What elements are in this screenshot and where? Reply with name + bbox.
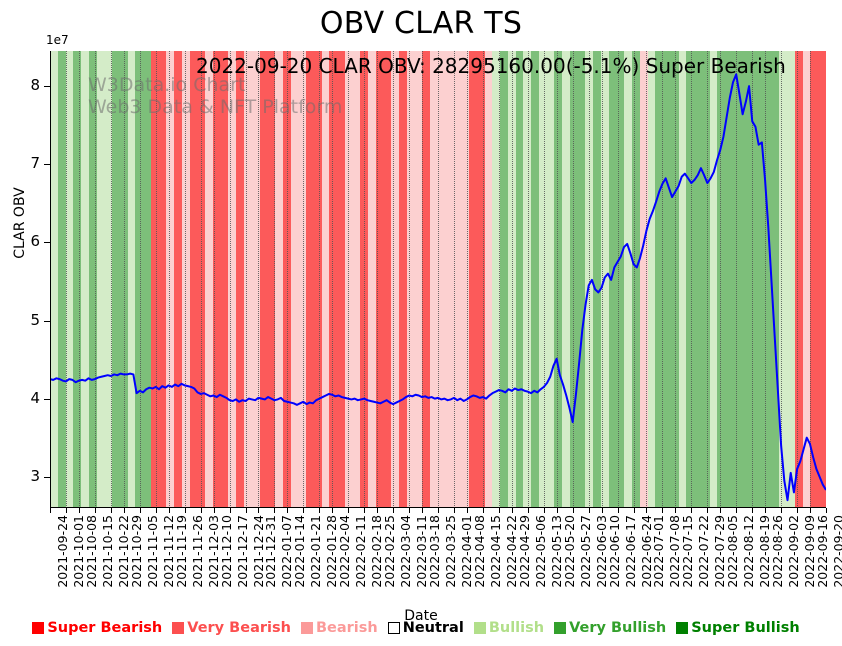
legend-label: Super Bullish: [691, 620, 799, 636]
x-tick-label: 2021-12-31: [263, 515, 278, 588]
x-tick-mark: [348, 508, 349, 513]
x-tick-mark: [528, 508, 529, 513]
series-polyline: [50, 74, 826, 500]
x-tick-label: 2022-06-10: [607, 515, 622, 588]
x-tick-mark: [557, 508, 558, 513]
x-tick-mark: [377, 508, 378, 513]
x-tick-mark: [499, 508, 500, 513]
legend-swatch: [301, 622, 313, 634]
x-tick-mark: [691, 508, 692, 513]
x-tick-mark: [736, 508, 737, 513]
x-tick-label: 2022-05-27: [578, 515, 593, 588]
x-tick-mark: [512, 508, 513, 513]
x-tick-mark: [201, 508, 202, 513]
x-tick-label: 2021-10-29: [129, 515, 144, 588]
legend-label: Super Bearish: [47, 620, 162, 636]
x-tick-label: 2022-08-26: [770, 515, 785, 588]
x-tick-mark: [364, 508, 365, 513]
x-tick-mark: [618, 508, 619, 513]
x-tick-mark: [409, 508, 410, 513]
x-tick-mark: [185, 508, 186, 513]
x-tick-mark: [826, 508, 827, 513]
x-tick-label: 2022-02-25: [382, 515, 397, 588]
x-tick-label: 2022-09-16: [815, 515, 830, 588]
x-tick-label: 2022-01-14: [292, 515, 307, 588]
x-tick-label: 2021-12-10: [219, 515, 234, 588]
legend-item[interactable]: Bearish: [301, 620, 378, 636]
legend-swatch: [172, 622, 184, 634]
x-tick-label: 2022-03-04: [398, 515, 413, 588]
x-tick-mark: [781, 508, 782, 513]
x-tick-mark: [50, 508, 51, 513]
legend-label: Bullish: [489, 620, 544, 636]
x-tick-label: 2021-10-15: [100, 515, 115, 588]
x-tick-label: 2021-10-08: [84, 515, 99, 588]
legend-swatch: [676, 622, 688, 634]
x-tick-mark: [319, 508, 320, 513]
x-tick-mark: [810, 508, 811, 513]
x-tick-mark: [765, 508, 766, 513]
x-tick-mark: [156, 508, 157, 513]
x-tick-mark: [214, 508, 215, 513]
legend-label: Very Bearish: [187, 620, 291, 636]
x-tick-label: 2022-07-15: [680, 515, 695, 588]
x-tick-label: 2022-05-20: [562, 515, 577, 588]
x-tick-mark: [707, 508, 708, 513]
x-tick-mark: [467, 508, 468, 513]
y-tick-mark: [44, 399, 50, 400]
legend-item[interactable]: Very Bearish: [172, 620, 291, 636]
x-tick-label: 2022-05-06: [533, 515, 548, 588]
legend-label: Bearish: [316, 620, 378, 636]
x-tick-label: 2022-03-18: [427, 515, 442, 588]
x-tick-label: 2022-04-15: [488, 515, 503, 588]
x-tick-label: 2021-11-05: [145, 515, 160, 588]
x-tick-mark: [438, 508, 439, 513]
x-tick-label: 2022-04-29: [517, 515, 532, 588]
x-tick-mark: [111, 508, 112, 513]
x-tick-mark: [95, 508, 96, 513]
legend-swatch: [32, 622, 44, 634]
x-tick-mark: [422, 508, 423, 513]
x-tick-mark: [720, 508, 721, 513]
x-tick-mark: [646, 508, 647, 513]
x-tick-mark: [393, 508, 394, 513]
x-tick-mark: [602, 508, 603, 513]
legend-swatch: [474, 622, 486, 634]
y-tick-mark: [44, 86, 50, 87]
page-title: OBV CLAR TS: [0, 6, 842, 41]
legend-label: Very Bullish: [569, 620, 666, 636]
y-axis-title: CLAR OBV: [12, 113, 28, 333]
x-tick-label: 2021-09-24: [55, 515, 70, 588]
y-tick-mark: [44, 164, 50, 165]
legend-item[interactable]: Super Bullish: [676, 620, 799, 636]
x-tick-label: 2022-01-21: [308, 515, 323, 588]
x-tick-label: 2021-11-19: [174, 515, 189, 588]
x-tick-mark: [544, 508, 545, 513]
x-tick-label: 2022-08-12: [741, 515, 756, 588]
x-tick-label: 2022-07-22: [696, 515, 711, 588]
x-tick-mark: [797, 508, 798, 513]
x-tick-mark: [274, 508, 275, 513]
x-tick-mark: [483, 508, 484, 513]
x-tick-mark: [662, 508, 663, 513]
x-tick-mark: [573, 508, 574, 513]
y-tick-mark: [44, 477, 50, 478]
legend-label: Neutral: [403, 620, 464, 636]
legend-item[interactable]: Very Bullish: [554, 620, 666, 636]
x-tick-mark: [752, 508, 753, 513]
x-tick-label: 2022-02-04: [337, 515, 352, 588]
x-tick-mark: [332, 508, 333, 513]
chart-figure: OBV CLAR TS 1e7 W3Data.io Chart Web3 Dat…: [0, 0, 842, 646]
legend-item[interactable]: Neutral: [388, 620, 464, 636]
watermark: W3Data.io Chart Web3 Data & NFT Platform: [88, 74, 342, 118]
x-tick-mark: [124, 508, 125, 513]
legend: Super BearishVery BearishBearishNeutralB…: [0, 620, 842, 636]
y-tick-label: 3: [14, 467, 40, 485]
x-tick-mark: [246, 508, 247, 513]
x-tick-mark: [287, 508, 288, 513]
watermark-line-2: Web3 Data & NFT Platform: [88, 96, 342, 118]
x-axis-ticks: 2021-09-242021-10-012021-10-082021-10-15…: [0, 508, 842, 612]
y-tick-mark: [44, 321, 50, 322]
x-tick-mark: [230, 508, 231, 513]
x-tick-label: 2021-11-26: [190, 515, 205, 588]
x-tick-label: 2021-12-17: [235, 515, 250, 588]
legend-swatch: [388, 622, 400, 634]
x-tick-mark: [258, 508, 259, 513]
x-tick-label: 2022-04-08: [472, 515, 487, 588]
x-tick-mark: [454, 508, 455, 513]
x-tick-label: 2022-09-02: [786, 515, 801, 588]
y-tick-label: 8: [14, 76, 40, 94]
x-tick-label: 2022-02-11: [353, 515, 368, 588]
x-tick-mark: [303, 508, 304, 513]
x-tick-label: 2022-06-17: [623, 515, 638, 588]
legend-swatch: [554, 622, 566, 634]
y-tick-mark: [44, 242, 50, 243]
x-tick-mark: [589, 508, 590, 513]
legend-item[interactable]: Bullish: [474, 620, 544, 636]
legend-item[interactable]: Super Bearish: [32, 620, 162, 636]
x-tick-mark: [79, 508, 80, 513]
y-tick-label: 4: [14, 389, 40, 407]
x-tick-label: 2022-07-01: [651, 515, 666, 588]
x-tick-mark: [66, 508, 67, 513]
chart-annotation: 2022-09-20 CLAR OBV: 28295160.00(-5.1%) …: [196, 54, 786, 78]
x-tick-mark: [140, 508, 141, 513]
data-series-line: [50, 51, 826, 508]
x-tick-mark: [675, 508, 676, 513]
x-tick-label: 2022-03-25: [443, 515, 458, 588]
plot-area[interactable]: [50, 51, 826, 508]
x-tick-label: 2022-09-20: [831, 515, 842, 588]
x-tick-label: 2022-08-05: [725, 515, 740, 588]
x-tick-mark: [634, 508, 635, 513]
y-axis-offset-label: 1e7: [46, 33, 69, 47]
x-tick-mark: [169, 508, 170, 513]
